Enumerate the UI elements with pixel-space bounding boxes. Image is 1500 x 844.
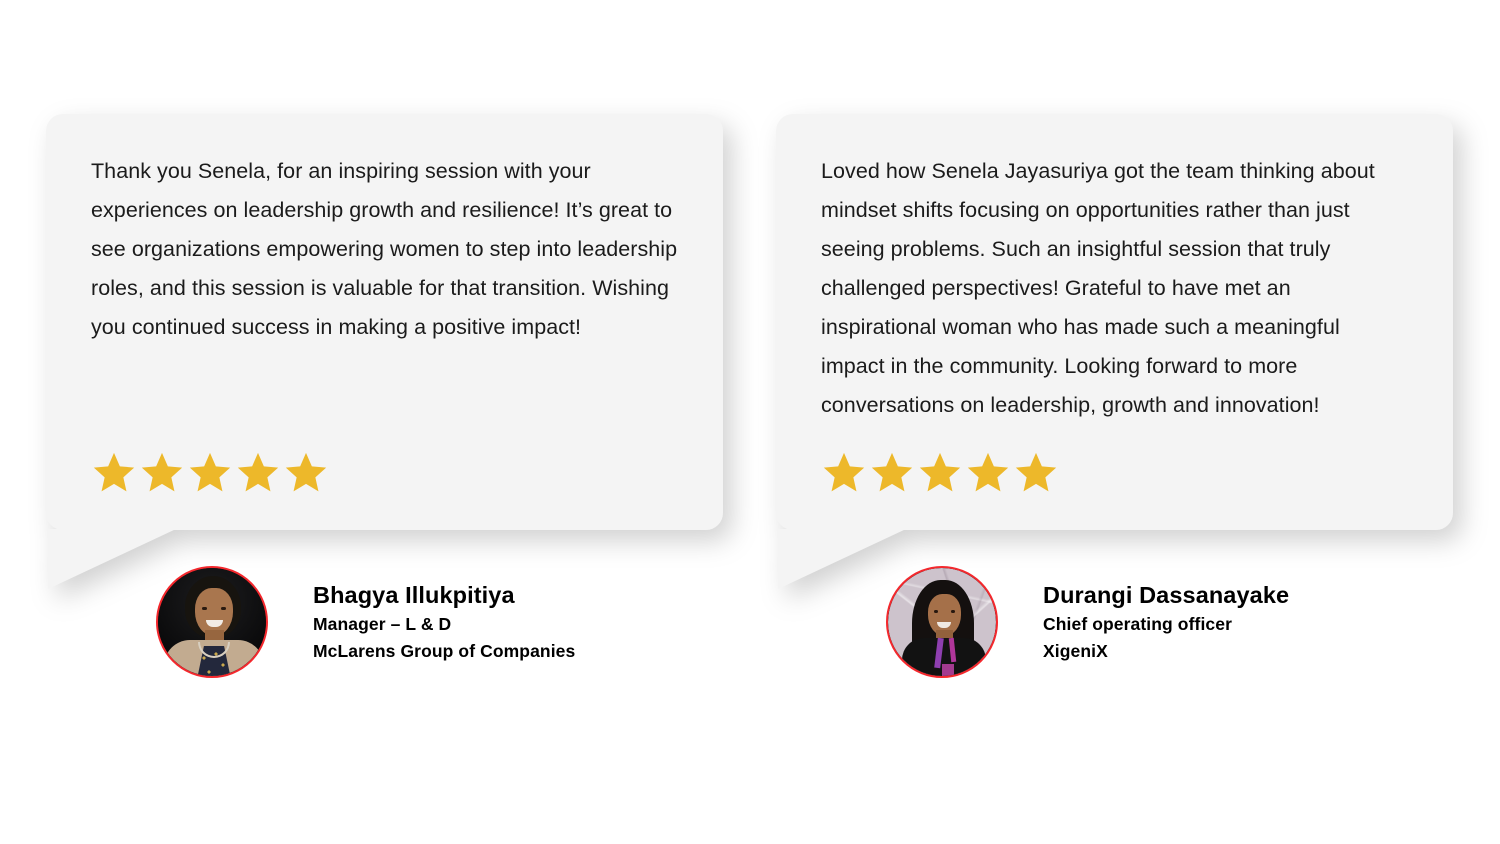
star-rating (91, 450, 329, 494)
star-icon (91, 450, 137, 494)
author-name: Bhagya Illukpitiya (313, 580, 575, 611)
star-icon (1013, 450, 1059, 494)
star-icon (869, 450, 915, 494)
avatar-photo (158, 568, 266, 676)
author-info: Durangi Dassanayake Chief operating offi… (1043, 580, 1289, 665)
testimonials-section: Thank you Senela, for an inspiring sessi… (0, 0, 1500, 844)
testimonial-author: Bhagya Illukpitiya Manager – L & D McLar… (156, 566, 575, 678)
star-rating (821, 450, 1059, 494)
author-name: Durangi Dassanayake (1043, 580, 1289, 611)
author-info: Bhagya Illukpitiya Manager – L & D McLar… (313, 580, 575, 665)
star-icon (965, 450, 1011, 494)
author-role: Chief operating officer (1043, 611, 1289, 638)
testimonial-quote: Loved how Senela Jayasuriya got the team… (821, 152, 1408, 425)
author-organization: McLarens Group of Companies (313, 638, 575, 665)
star-icon (187, 450, 233, 494)
author-role: Manager – L & D (313, 611, 575, 638)
star-icon (283, 450, 329, 494)
star-icon (821, 450, 867, 494)
avatar (156, 566, 268, 678)
author-organization: XigeniX (1043, 638, 1289, 665)
testimonial-card: Thank you Senela, for an inspiring sessi… (46, 114, 723, 530)
testimonial-author: Durangi Dassanayake Chief operating offi… (886, 566, 1289, 678)
star-icon (139, 450, 185, 494)
avatar-photo (888, 568, 996, 676)
star-icon (235, 450, 281, 494)
testimonial-quote: Thank you Senela, for an inspiring sessi… (91, 152, 678, 347)
avatar (886, 566, 998, 678)
star-icon (917, 450, 963, 494)
testimonial-card: Loved how Senela Jayasuriya got the team… (776, 114, 1453, 530)
